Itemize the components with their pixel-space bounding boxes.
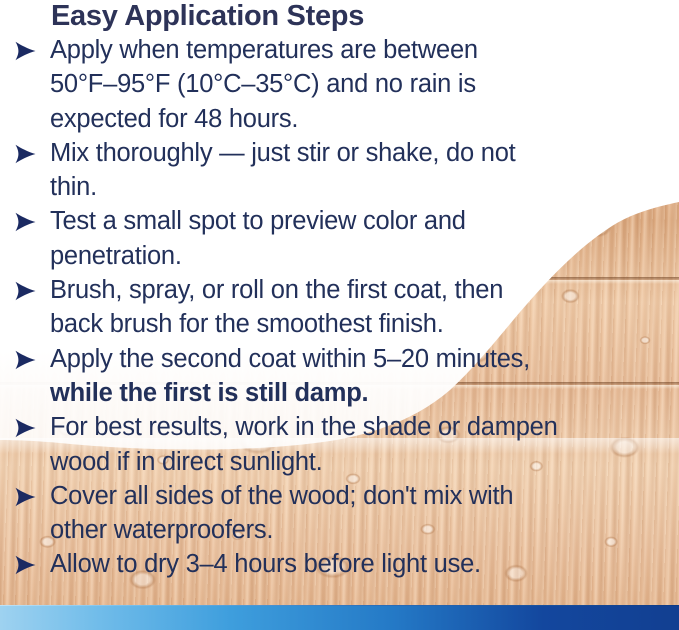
application-step: Cover all sides of the wood; don't mix w… [0,479,679,548]
application-step-line: Apply the second coat within 5–20 minute… [50,345,530,373]
application-step-line: Cover all sides of the wood; don't mix w… [50,482,513,510]
application-step-line: back brush for the smoothest finish. [50,310,444,338]
application-step-line: 50°F–95°F (10°C–35°C) and no rain is [50,70,476,98]
arrowhead-right-icon [14,555,42,575]
application-step-line: penetration. [50,242,182,270]
arrowhead-right-icon [14,41,42,61]
application-step: Mix thoroughly — just stir or shake, do … [0,136,679,205]
application-step-line: thin. [50,173,97,201]
easy-application-steps-panel: Easy Application Steps Apply when temper… [0,0,679,630]
application-step-text: Apply when temperatures are between50°F–… [50,33,679,136]
arrowhead-right-icon [14,212,42,232]
application-step-text: Mix thoroughly — just stir or shake, do … [50,136,679,205]
application-step-line: Allow to dry 3–4 hours before light use. [50,550,481,578]
application-step-text: Test a small spot to preview color andpe… [50,204,679,273]
panel-content: Easy Application Steps Apply when temper… [0,0,679,630]
application-step-line: expected for 48 hours. [50,105,298,133]
application-step-text: Allow to dry 3–4 hours before light use. [50,547,679,581]
application-steps-list: Apply when temperatures are between50°F–… [0,33,679,582]
application-step-line: Apply when temperatures are between [50,36,478,64]
application-step-line: For best results, work in the shade or d… [50,413,558,441]
page-title: Easy Application Steps [51,0,364,33]
application-step-line: Mix thoroughly — just stir or shake, do … [50,139,515,167]
application-step-line: Test a small spot to preview color and [50,207,466,235]
application-step-line: Brush, spray, or roll on the first coat,… [50,276,503,304]
arrowhead-right-icon [14,144,42,164]
application-step-text: Cover all sides of the wood; don't mix w… [50,479,679,548]
arrowhead-right-icon [14,281,42,301]
application-step-text: Brush, spray, or roll on the first coat,… [50,273,679,342]
application-step-line: other waterproofers. [50,516,273,544]
arrowhead-right-icon [14,350,42,370]
application-step-emphasis: while the first is still damp. [50,379,368,407]
application-step: Brush, spray, or roll on the first coat,… [0,273,679,342]
application-step: Apply when temperatures are between50°F–… [0,33,679,136]
application-step: Allow to dry 3–4 hours before light use. [0,547,679,581]
bottom-blue-band [0,606,679,630]
application-step-line: wood if in direct sunlight. [50,448,322,476]
application-step: Apply the second coat within 5–20 minute… [0,342,679,411]
application-step: For best results, work in the shade or d… [0,410,679,479]
application-step-text: For best results, work in the shade or d… [50,410,679,479]
arrowhead-right-icon [14,487,42,507]
application-step-text: Apply the second coat within 5–20 minute… [50,342,679,411]
arrowhead-right-icon [14,418,42,438]
application-step: Test a small spot to preview color andpe… [0,204,679,273]
